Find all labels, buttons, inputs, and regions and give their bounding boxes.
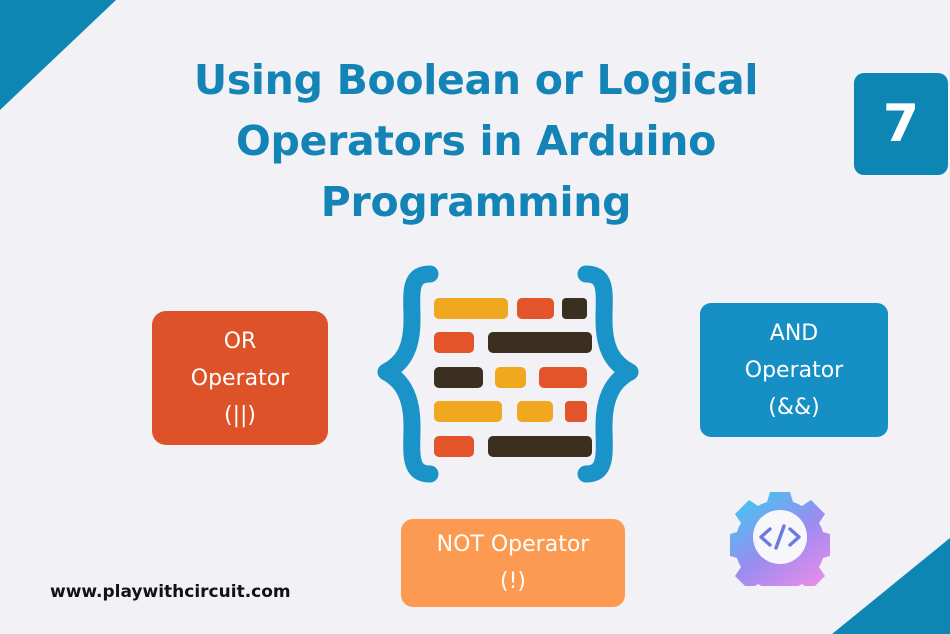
or-operator-line-2: Operator — [191, 360, 289, 397]
corner-triangle-bottom-right — [832, 538, 950, 634]
code-bar — [517, 401, 553, 422]
code-brace-left — [386, 274, 430, 474]
code-bar — [488, 436, 592, 457]
page-title-line-1: Using Boolean or Logical — [160, 50, 792, 111]
code-bar — [434, 401, 502, 422]
code-block-illustration — [372, 260, 644, 490]
code-bar — [517, 298, 554, 319]
code-bar — [434, 436, 474, 457]
or-operator-line-1: OR — [224, 323, 257, 360]
page-title: Using Boolean or Logical Operators in Ar… — [160, 50, 792, 233]
corner-triangle-top-left — [0, 0, 116, 110]
infographic-canvas: 7 Using Boolean or Logical Operators in … — [0, 0, 950, 634]
or-operator-line-3: (||) — [224, 397, 256, 434]
and-operator-line-1: AND — [770, 315, 818, 352]
website-url: www.playwithcircuit.com — [50, 582, 291, 602]
not-operator-card: NOT Operator (!) — [401, 519, 625, 607]
code-bars — [434, 298, 592, 457]
or-operator-card: OR Operator (||) — [152, 311, 328, 445]
number-badge-value: 7 — [883, 98, 919, 150]
code-bar — [434, 332, 474, 353]
code-bar — [434, 367, 483, 388]
code-bar — [434, 298, 508, 319]
code-bar — [495, 367, 526, 388]
page-title-line-2: Operators in Arduino — [160, 111, 792, 172]
gear-code-icon — [730, 488, 830, 586]
code-bar — [562, 298, 587, 319]
code-bar — [539, 367, 587, 388]
and-operator-line-2: Operator — [745, 352, 843, 389]
and-operator-card: AND Operator (&&) — [700, 303, 888, 437]
code-bar — [565, 401, 587, 422]
not-operator-line-1: NOT Operator — [437, 526, 590, 563]
number-badge: 7 — [854, 73, 948, 175]
code-bar — [488, 332, 592, 353]
not-operator-line-2: (!) — [500, 563, 526, 600]
code-brace-right — [586, 274, 630, 474]
and-operator-line-3: (&&) — [768, 389, 819, 426]
page-title-line-3: Programming — [160, 172, 792, 233]
